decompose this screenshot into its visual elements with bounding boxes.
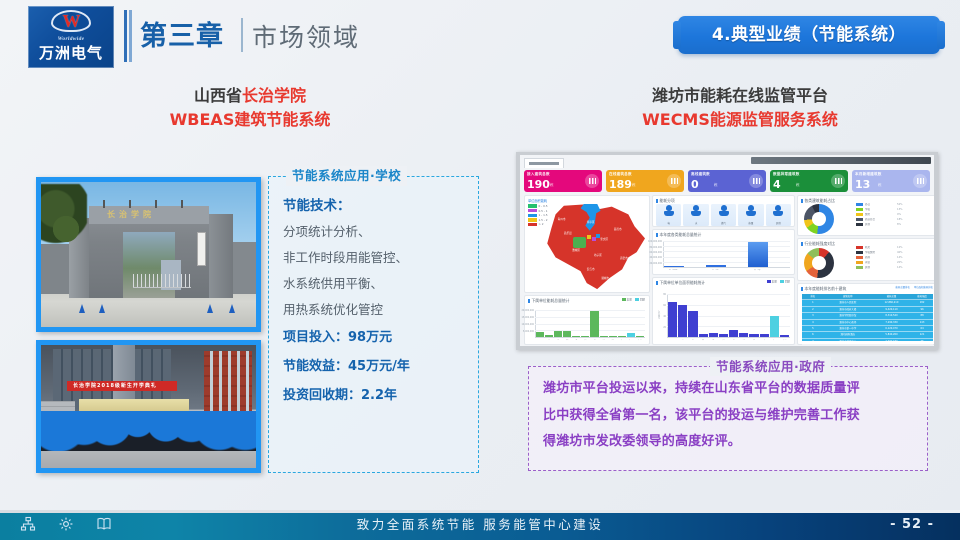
legend-value: 14% — [897, 266, 903, 270]
cell-name: 潍坊学院图书馆 — [824, 313, 872, 318]
y-tick: 20,000,000 — [521, 309, 534, 312]
x-label: 九 — [749, 339, 758, 342]
column-header: 能耗总量 — [872, 294, 911, 299]
table-tool-intensity[interactable]: 单位面积能耗排名 — [914, 286, 933, 290]
x-label: 五 — [572, 339, 580, 342]
logo-company-name: 万洲电气 — [39, 45, 103, 62]
bar-chart-icon — [585, 174, 599, 188]
other-icon — [772, 205, 784, 216]
cell-name: 潍坊市人民医院 — [824, 300, 872, 305]
slide-canvas: W Worldwide 万洲电气 第三章 市场领域 4.典型业绩（节能系统） 山… — [0, 0, 960, 540]
kpi-unit: 栋 — [878, 183, 882, 188]
legend-label: 本期 — [627, 299, 632, 302]
y-tick: 40 — [663, 315, 666, 318]
x-label: 八 — [739, 339, 748, 342]
cell-name: 潍坊市中心商场 — [824, 320, 872, 325]
legend-value: 18% — [897, 218, 903, 222]
card-title: 下属单位能耗总量统计 — [528, 298, 569, 304]
gov-text-line: 比中获得全省第一名，该平台的投运与维护完善工作获 — [543, 403, 915, 430]
legend-label: 其他 — [865, 223, 895, 227]
check-circle-icon — [913, 174, 927, 188]
top-buildings-table-card[interactable]: 本年度能耗排名前十建筑 能耗总量排名 单位面积能耗排名 排名 建筑名称 能耗总量… — [797, 283, 934, 345]
bar — [668, 302, 677, 337]
energy-type-other[interactable]: 其他 — [766, 204, 791, 226]
energy-tech-item: 非工作时段用能管控、 — [283, 245, 464, 271]
legend-label: 其他 — [865, 266, 895, 270]
map-region-label: 奎文区 — [600, 238, 608, 241]
bar — [709, 333, 718, 336]
total-energy-bar-chart[interactable]: 本年度各类能耗总量统计 100,000,000 80,000,000 60,00… — [652, 229, 795, 275]
bar — [770, 316, 779, 336]
section-badge: 4.典型业绩（节能系统） — [678, 16, 940, 54]
bar — [719, 334, 728, 337]
bar — [769, 266, 789, 267]
x-label: 四 — [563, 339, 571, 342]
kpi-card[interactable]: 接入建筑总数 190 栋 — [524, 170, 602, 192]
bar — [664, 266, 684, 267]
legend-value: 13% — [897, 208, 903, 212]
x-label: 七 — [729, 339, 738, 342]
y-tick: 5,000,000 — [523, 330, 534, 333]
metric-payback: 投资回收期：2.2年 — [283, 381, 464, 410]
page-number: - 52 - — [890, 516, 934, 534]
left-panel-title: 节能系统应用·学校 — [286, 166, 407, 186]
page-title: 市场领域 — [252, 22, 360, 54]
cell-rank: 7 — [802, 339, 824, 344]
cell-total: 9,420,110 — [872, 307, 911, 312]
cell-total: 8,310,540 — [872, 313, 911, 318]
cell-rank: 1 — [802, 300, 824, 305]
right-panel-title: 节能系统应用·政府 — [710, 357, 831, 376]
chapter-subject-divider — [241, 18, 243, 52]
map-region-label: 安丘市 — [587, 268, 595, 271]
cell-name: 潍坊市第一中学 — [824, 326, 872, 331]
x-label: 四 — [699, 339, 708, 342]
left-info-panel: 节能技术： 分项统计分析、 非工作时段用能管控、 水系统供用平衡、 用热系统优化… — [268, 176, 479, 473]
bar — [727, 266, 747, 267]
map-region-label: 诸城市 — [601, 277, 609, 280]
kpi-unit: 栋 — [632, 183, 636, 188]
x-label: 十二 — [780, 339, 789, 342]
bar — [609, 336, 617, 337]
legend-value: 12% — [897, 246, 903, 250]
card-title: 行业能耗强度对比 — [801, 241, 835, 247]
x-label: 十 — [618, 339, 626, 342]
photo-campus-gate: 长治学院 — [36, 177, 261, 332]
donut-chart — [804, 248, 834, 278]
map-region-label: 青州市 — [558, 218, 566, 221]
cell-total: 6,120,470 — [872, 326, 911, 331]
kpi-card[interactable]: 在线建筑总数 189 栋 — [606, 170, 684, 192]
bar-chart-icon — [667, 174, 681, 188]
legend-label: 办公 — [865, 203, 895, 207]
legend-value: 20% — [897, 261, 903, 265]
card-title: 本年度各类能耗总量统计 — [656, 232, 701, 238]
bar — [618, 336, 626, 337]
metric-investment: 项目投入：98万元 — [283, 323, 464, 352]
dashboard-titlebar — [751, 157, 931, 164]
chapter-label: 第三章 — [140, 20, 224, 54]
energy-tech-heading: 节能技术： — [283, 193, 464, 219]
company-logo: W Worldwide 万洲电气 — [28, 6, 114, 68]
unit-area-energy-bar-chart[interactable]: 下属单位单位面积能耗统计 本期 同期 80 60 40 20 kWh/m² — [652, 277, 795, 345]
x-label: 八 — [600, 339, 608, 342]
heat-icon — [745, 205, 757, 216]
energy-type-label: 其他 — [766, 222, 791, 226]
cell-total: 12,860,210 — [872, 300, 911, 305]
electricity-icon — [663, 205, 675, 216]
x-label: 电（kWh） — [664, 269, 684, 272]
x-label: 六 — [581, 339, 589, 342]
y-tick: 40,000,000 — [649, 256, 662, 259]
bar — [699, 334, 708, 337]
energy-type-gas[interactable]: 燃气 — [711, 204, 736, 226]
bar — [545, 335, 553, 336]
gov-text-line: 潍坊市平台投运以来，持续在山东省平台的数据质量评 — [543, 376, 915, 403]
right-info-panel: 潍坊市平台投运以来，持续在山东省平台的数据质量评 比中获得全省第一名，该平台的投… — [528, 366, 928, 471]
water-icon — [690, 205, 702, 216]
kpi-card[interactable]: 离线建筑数 0 栋 — [688, 170, 766, 192]
right-column-title: 潍坊市能耗在线监管平台 WECMS能源监管服务系统 — [540, 84, 940, 132]
bar-chart-icon — [831, 174, 845, 188]
cell-total: 4,930,180 — [872, 339, 911, 344]
energy-type-heat[interactable]: 热量 — [738, 204, 763, 226]
energy-tech-item: 用热系统优化管控 — [283, 297, 464, 323]
x-label: 热（GJ） — [748, 269, 768, 272]
logo-emblem-icon: W — [48, 9, 94, 35]
energy-type-label: 水 — [683, 222, 708, 226]
card-title: 本年度能耗排名前十建筑 — [801, 286, 846, 292]
logo-tagline: Worldwide — [58, 36, 85, 43]
y-tick: 80,000,000 — [649, 246, 662, 249]
x-label: 六 — [719, 339, 728, 342]
cell-total: 5,840,260 — [872, 332, 911, 337]
unit-total-energy-bar-chart[interactable]: 下属单位能耗总量统计 本期 同期 20,000,000 15,000,000 1… — [524, 295, 650, 345]
x-label: 十一 — [627, 339, 635, 342]
photo-opening-ceremony: 长治学院2018级新生开学典礼 — [36, 340, 261, 473]
kpi-card[interactable]: 本月新增建筑数 13 栋 — [852, 170, 930, 192]
energy-type-electricity[interactable]: 电 — [656, 204, 681, 226]
chart-legend: 本期 同期 — [767, 280, 790, 285]
cell-total: 7,290,330 — [872, 320, 911, 325]
map-region-label: 寒亭区 — [587, 221, 595, 224]
cell-name: 潍坊国际酒店 — [824, 332, 872, 337]
x-label: 二 — [545, 339, 553, 342]
bar-chart-icon — [749, 174, 763, 188]
map-region-label: 高密市 — [620, 257, 628, 260]
cell-name: 潍坊市政府大楼 — [824, 307, 872, 312]
bar — [688, 311, 697, 337]
x-label: 十一 — [770, 339, 779, 342]
legend-label: 学校 — [865, 208, 895, 212]
legend-value: 40% — [897, 251, 903, 255]
kpi-unit: 栋 — [550, 183, 554, 188]
building-energy-donut[interactable]: 各类建筑能耗占比 办公52% 学校13% 医院9% 商业综合18% 其他8% — [797, 195, 934, 236]
map-card[interactable]: 单位面积能耗 0 - 0.5 0.5 - 1 1 - 1.5 1.5 - 2 >… — [524, 195, 650, 293]
x-label: 五 — [709, 339, 718, 342]
header-divider-2 — [129, 10, 132, 62]
map-region-label: 昌乐县 — [564, 232, 572, 235]
bar — [554, 331, 562, 336]
bar — [780, 335, 789, 337]
donut-legend: 办公52% 学校13% 医院9% 商业综合18% 其他8% — [856, 202, 903, 227]
map-region-label: 潍城区 — [572, 249, 580, 252]
bar — [760, 334, 769, 337]
bar — [590, 311, 598, 336]
left-title-red: 长治学院 — [242, 86, 306, 105]
cell-rank: 5 — [802, 326, 824, 331]
x-label: 三 — [554, 339, 562, 342]
logo-w-letter: W — [48, 10, 94, 32]
legend-label: 同期 — [640, 299, 645, 302]
cell-intensity: 143 — [911, 320, 933, 325]
left-title-plain: 山西省 — [194, 86, 242, 105]
table-tool-total[interactable]: 能耗总量排名 — [896, 286, 910, 290]
x-label: 九 — [609, 339, 617, 342]
energy-type-label: 电 — [656, 222, 681, 226]
cell-rank: 6 — [802, 332, 824, 337]
cell-intensity: 64 — [911, 326, 933, 331]
data-table: 排名 建筑名称 能耗总量 能耗强度 1潍坊市人民医院12,860,210182 … — [802, 294, 933, 341]
y-axis-label: kWh/m² — [658, 311, 661, 320]
gov-text-line: 得潍坊市发改委领导的高度好评。 — [543, 429, 915, 456]
cell-rank: 2 — [802, 307, 824, 312]
dashboard-tab[interactable] — [524, 158, 564, 168]
donut-chart — [804, 204, 834, 234]
legend-label: 宾馆 — [865, 261, 895, 265]
bar — [729, 330, 738, 337]
y-tick: 100,000,000 — [648, 240, 662, 243]
cell-intensity: 182 — [911, 300, 933, 305]
legend-value: 14% — [897, 256, 903, 260]
y-tick: 20 — [663, 326, 666, 329]
map-region-label: 坊子区 — [594, 254, 602, 257]
y-tick: 60 — [663, 304, 666, 307]
bar — [685, 266, 705, 267]
x-label: 十 — [760, 339, 769, 342]
cell-rank: 4 — [802, 320, 824, 325]
bar — [627, 333, 635, 336]
x-label: 一 — [536, 339, 544, 342]
kpi-card[interactable]: 数据异常建筑数 4 栋 — [770, 170, 848, 192]
chart-legend: 本期 同期 — [622, 298, 645, 303]
column-header: 排名 — [802, 294, 824, 299]
bar — [572, 336, 580, 337]
y-tick: 15,000,000 — [521, 316, 534, 319]
bar — [636, 336, 644, 337]
right-title-line1: 潍坊市能耗在线监管平台 — [540, 84, 940, 108]
energy-type-card[interactable]: 能耗分项 电 水 燃气 热量 其他 — [652, 195, 795, 227]
section-badge-label: 4.典型业绩（节能系统） — [712, 25, 906, 45]
left-title-line2: WBEAS建筑节能系统 — [100, 108, 400, 132]
legend-value: 9% — [897, 213, 901, 217]
industry-energy-donut[interactable]: 行业能耗强度对比 机关12% 学校医院40% 商场14% 宾馆20% 其他14% — [797, 238, 934, 281]
ceremony-banner-text: 长治学院2018级新生开学典礼 — [73, 382, 157, 390]
legend-label: 机关 — [865, 246, 895, 250]
energy-tech-item: 水系统供用平衡、 — [283, 271, 464, 297]
footer-slogan: 致力全面系统节能 服务能管中心建设 — [0, 516, 960, 534]
legend-label: 医院 — [865, 213, 895, 217]
x-label: 水（吨） — [706, 269, 726, 272]
kpi-unit: 栋 — [796, 183, 800, 188]
cell-intensity: 121 — [911, 332, 933, 337]
legend-label: 本期 — [772, 281, 777, 284]
x-label: 十二 — [636, 339, 644, 342]
kpi-row: 接入建筑总数 190 栋 在线建筑总数 189 栋 离线建筑数 0 栋 — [524, 170, 930, 192]
metric-savings: 节能效益：45万元/年 — [283, 352, 464, 381]
y-tick: 20,000,000 — [649, 262, 662, 265]
column-header: 能耗强度 — [911, 294, 933, 299]
y-tick: 10,000,000 — [521, 323, 534, 326]
map-legend-title: 单位面积能耗 — [528, 199, 558, 204]
column-header: 建筑名称 — [824, 294, 872, 299]
x-label: 七 — [590, 339, 598, 342]
dashboard-screenshot: 接入建筑总数 190 栋 在线建筑总数 189 栋 离线建筑数 0 栋 — [516, 152, 938, 350]
x-label: 二 — [678, 339, 687, 342]
legend-value: 52% — [897, 203, 903, 207]
bar — [678, 305, 687, 336]
bar — [536, 332, 544, 337]
bar — [581, 336, 589, 337]
y-tick: 60,000,000 — [649, 251, 662, 254]
bar — [748, 242, 768, 266]
legend-label: 同期 — [785, 281, 790, 284]
map-region-label: 昌邑市 — [614, 228, 622, 231]
table-row[interactable]: 7潍坊市体育中心4,930,18075 — [802, 339, 933, 345]
bar — [563, 331, 571, 337]
left-column-title: 山西省长治学院 WBEAS建筑节能系统 — [100, 84, 400, 132]
cell-rank: 3 — [802, 313, 824, 318]
map-region-green — [573, 237, 585, 248]
y-tick: 80 — [663, 293, 666, 296]
x-label: 三 — [688, 339, 697, 342]
gas-icon — [718, 205, 730, 216]
energy-type-water[interactable]: 水 — [683, 204, 708, 226]
right-title-line2: WECMS能源监管服务系统 — [540, 108, 940, 132]
weifang-map[interactable]: 寒亭区 昌乐县 潍城区 奎文区 坊子区 安丘市 诸城市 高密市 昌邑市 青州市 — [541, 204, 645, 290]
energy-tech-item: 分项统计分析、 — [283, 219, 464, 245]
cell-name: 潍坊市体育中心 — [824, 339, 872, 344]
legend-label: 商业综合 — [865, 218, 895, 222]
energy-type-label: 燃气 — [711, 222, 736, 226]
cell-intensity: 96 — [911, 307, 933, 312]
bar — [600, 336, 608, 337]
card-title: 下属单位单位面积能耗统计 — [656, 280, 705, 286]
kpi-unit: 栋 — [714, 183, 718, 188]
x-label: 一 — [668, 339, 677, 342]
bar — [739, 333, 748, 337]
donut-legend: 机关12% 学校医院40% 商场14% 宾馆20% 其他14% — [856, 245, 903, 270]
cell-intensity: 75 — [911, 339, 933, 344]
energy-type-label: 热量 — [738, 222, 763, 226]
legend-label: 学校医院 — [865, 251, 895, 255]
header-divider-1 — [124, 10, 127, 62]
legend-value: 8% — [897, 223, 901, 227]
legend-label: 商场 — [865, 256, 895, 260]
footer-bar: 致力全面系统节能 服务能管中心建设 - 52 - — [0, 510, 960, 540]
bar — [749, 334, 758, 336]
cell-intensity: 88 — [911, 313, 933, 318]
bar — [706, 265, 726, 267]
